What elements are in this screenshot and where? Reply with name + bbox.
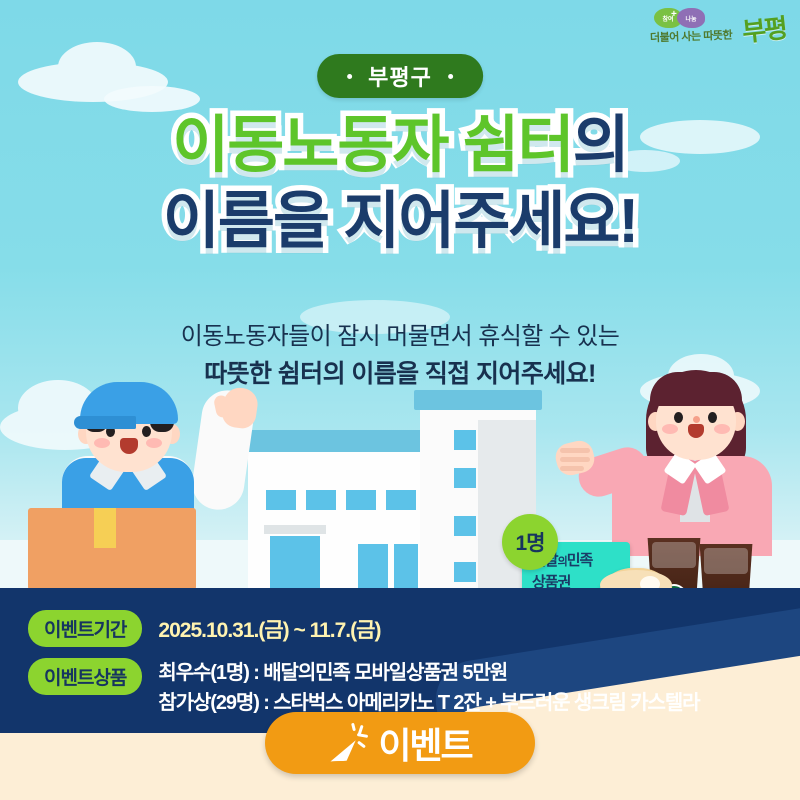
event-prize-row: 이벤트상품 최우수(1명) : 배달의민족 모바일상품권 5만원 참가상(29명… (28, 658, 699, 718)
subtitle: 이동노동자들이 잠시 머물면서 휴식할 수 있는 따뜻한 쉼터의 이름을 직접 … (0, 318, 800, 394)
subtitle-line-2: 따뜻한 쉼터의 이름을 직접 지어주세요! (0, 355, 800, 394)
badge-first-prize-count: 1명 (502, 514, 558, 570)
event-period-value: 2025.10.31.(금) ~ 11.7.(금) (158, 614, 380, 644)
event-prize-label: 이벤트상품 (28, 658, 142, 695)
title-line-1-green: 이동노동자 쉼터 (172, 111, 573, 180)
event-period-row: 이벤트기간 2025.10.31.(금) ~ 11.7.(금) (28, 610, 380, 647)
page-title: 이동노동자 쉼터의 이름을 지어주세요! (0, 108, 800, 259)
community-center-building (248, 402, 548, 592)
district-badge-label: 부평구 (368, 60, 432, 92)
subtitle-line-1: 이동노동자들이 잠시 머물면서 휴식할 수 있는 (0, 318, 800, 355)
event-button[interactable]: 이벤트 (265, 712, 535, 774)
logo-blob-right-text: 나눔 (685, 14, 696, 23)
event-prize-values: 최우수(1명) : 배달의민족 모바일상품권 5만원 참가상(29명) : 스타… (158, 658, 699, 718)
event-info-panel: 이벤트기간 2025.10.31.(금) ~ 11.7.(금) 이벤트상품 최우… (0, 588, 800, 733)
event-period-label: 이벤트기간 (28, 610, 142, 647)
event-poster: 참여 나눔 + 더불어 사는 따뜻한 부평 부평구 이동노동자 쉼터의 이름을 … (0, 0, 800, 800)
delivery-worker-illustration (28, 380, 243, 590)
prize-line-participation: 참가상(29명) : 스타벅스 아메리카노 T 2잔 + 부드러운 생크림 카스… (158, 688, 699, 718)
logo-brand-name: 부평 (740, 8, 787, 49)
baemin-title-part-2: 의 (558, 556, 567, 568)
title-line-2: 이름을 지어주세요! (0, 184, 800, 260)
event-button-label: 이벤트 (378, 717, 471, 769)
badge-dot-right-icon (448, 74, 453, 79)
logo-plus-symbol: + (671, 9, 677, 20)
title-line-1-navy: 의 (573, 111, 628, 180)
title-line-2-text: 이름을 지어주세요! (163, 187, 637, 256)
logo-tagline: 더불어 사는 따뜻한 (650, 27, 733, 46)
party-popper-icon (328, 723, 368, 763)
bupyeong-gu-logo: 참여 나눔 + 더불어 사는 따뜻한 부평 (648, 4, 788, 50)
prize-line-first: 최우수(1명) : 배달의민족 모바일상품권 5만원 (158, 658, 699, 688)
logo-blob-purple: 나눔 (677, 8, 705, 28)
district-badge: 부평구 (317, 54, 483, 98)
baemin-title-part-3: 민족 (567, 552, 593, 569)
badge-dot-left-icon (347, 74, 352, 79)
title-line-1: 이동노동자 쉼터의 (0, 108, 800, 184)
